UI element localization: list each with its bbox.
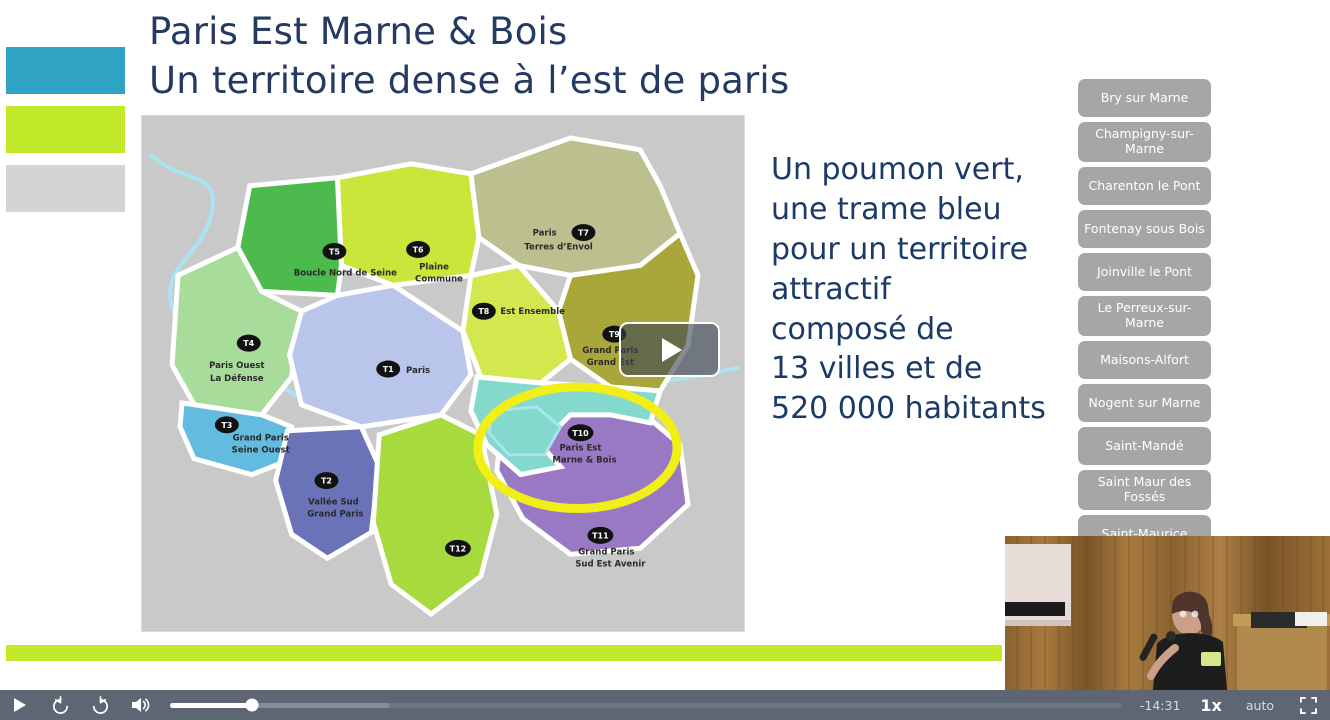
svg-text:Paris: Paris bbox=[406, 366, 430, 376]
svg-text:Paris Ouest: Paris Ouest bbox=[209, 361, 264, 371]
svg-text:Paris: Paris bbox=[533, 229, 557, 239]
svg-text:La Défense: La Défense bbox=[210, 373, 264, 384]
city-button[interactable]: Charenton le Pont bbox=[1078, 167, 1211, 205]
volume-icon bbox=[130, 696, 150, 714]
body-line: Un poumon vert, bbox=[771, 150, 1071, 190]
body-line: 13 villes et de bbox=[771, 349, 1071, 389]
slide-title-line-1: Paris Est Marne & Bois bbox=[149, 8, 909, 57]
city-button[interactable]: Nogent sur Marne bbox=[1078, 384, 1211, 422]
rewind-icon bbox=[51, 696, 70, 715]
volume-button[interactable] bbox=[120, 690, 160, 720]
color-swatch-group bbox=[6, 47, 125, 224]
city-button[interactable]: Maisons-Alfort bbox=[1078, 341, 1211, 379]
city-button[interactable]: Saint-Mandé bbox=[1078, 427, 1211, 465]
slide-title-line-2: Un territoire dense à l’est de paris bbox=[149, 57, 909, 106]
city-button[interactable]: Champigny-sur-Marne bbox=[1078, 122, 1211, 162]
svg-text:Marne & Bois: Marne & Bois bbox=[552, 456, 616, 466]
city-button[interactable]: Fontenay sous Bois bbox=[1078, 210, 1211, 248]
video-control-bar: -14:31 1x auto bbox=[0, 690, 1330, 720]
fullscreen-icon bbox=[1300, 697, 1317, 714]
swatch-gray bbox=[6, 165, 125, 212]
webcam-pip[interactable] bbox=[1005, 536, 1330, 690]
svg-text:Terres d’Envol: Terres d’Envol bbox=[524, 242, 593, 252]
svg-text:T4: T4 bbox=[243, 339, 254, 348]
city-button[interactable]: Joinville le Pont bbox=[1078, 253, 1211, 291]
map-badge-T1: T1 bbox=[376, 361, 400, 378]
svg-text:T5: T5 bbox=[329, 247, 340, 256]
seek-progress bbox=[170, 703, 252, 708]
fullscreen-button[interactable] bbox=[1286, 690, 1330, 720]
svg-text:Grand Paris: Grand Paris bbox=[233, 434, 289, 444]
svg-text:Boucle Nord de Seine: Boucle Nord de Seine bbox=[294, 268, 397, 278]
map-badge-T12: T12 bbox=[445, 540, 471, 557]
svg-text:T8: T8 bbox=[478, 307, 489, 316]
playback-speed-button[interactable]: 1x bbox=[1188, 696, 1233, 715]
play-overlay-button[interactable] bbox=[619, 322, 720, 377]
swatch-teal bbox=[6, 47, 125, 94]
body-line: 520 000 habitants bbox=[771, 389, 1071, 429]
forward-icon bbox=[91, 696, 110, 715]
svg-text:T3: T3 bbox=[221, 421, 232, 430]
svg-text:T11: T11 bbox=[592, 531, 609, 540]
play-icon bbox=[13, 697, 27, 713]
slide-title-block: Paris Est Marne & Bois Un territoire den… bbox=[149, 8, 909, 106]
play-button[interactable] bbox=[0, 690, 40, 720]
svg-text:Paris Est: Paris Est bbox=[559, 444, 601, 454]
seek-track[interactable] bbox=[170, 703, 1122, 708]
city-button[interactable]: Bry sur Marne bbox=[1078, 79, 1211, 117]
map-badge-T11: T11 bbox=[587, 527, 613, 544]
territory-T6 bbox=[337, 164, 478, 286]
video-player-page: Paris Est Marne & Bois Un territoire den… bbox=[0, 0, 1330, 720]
svg-text:T7: T7 bbox=[578, 229, 589, 238]
map-badge-T10: T10 bbox=[568, 424, 594, 441]
map-badge-T8: T8 bbox=[472, 303, 496, 320]
forward-button[interactable] bbox=[80, 690, 120, 720]
slide-body-text: Un poumon vert, une trame bleu pour un t… bbox=[771, 150, 1071, 429]
time-remaining: -14:31 bbox=[1132, 698, 1189, 713]
map-badge-T5: T5 bbox=[322, 243, 346, 260]
map-badge-T3: T3 bbox=[215, 416, 239, 433]
svg-text:Plaine: Plaine bbox=[419, 262, 449, 272]
rewind-button[interactable] bbox=[40, 690, 80, 720]
svg-text:Grand Paris: Grand Paris bbox=[578, 547, 634, 557]
svg-text:Vallée Sud: Vallée Sud bbox=[308, 496, 359, 507]
svg-text:Sud Est Avenir: Sud Est Avenir bbox=[575, 559, 646, 569]
map-badge-T4: T4 bbox=[237, 335, 261, 352]
seek-handle[interactable] bbox=[245, 699, 258, 712]
city-button[interactable]: Saint Maur des Fossés bbox=[1078, 470, 1211, 510]
svg-text:T2: T2 bbox=[321, 477, 332, 486]
svg-text:T12: T12 bbox=[450, 544, 467, 553]
svg-text:T6: T6 bbox=[413, 245, 424, 254]
svg-text:Grand Paris: Grand Paris bbox=[307, 509, 363, 519]
svg-text:Commune: Commune bbox=[415, 274, 463, 284]
quality-button[interactable]: auto bbox=[1234, 698, 1286, 713]
body-line: composé de bbox=[771, 310, 1071, 350]
body-line: pour un territoire bbox=[771, 230, 1071, 270]
svg-text:T1: T1 bbox=[383, 365, 394, 374]
control-bar-right: -14:31 1x auto bbox=[1132, 690, 1330, 720]
swatch-lime bbox=[6, 106, 125, 153]
city-button[interactable]: Le Perreux-sur-Marne bbox=[1078, 296, 1211, 336]
svg-text:Seine Ouest: Seine Ouest bbox=[232, 446, 290, 456]
body-line: une trame bleu bbox=[771, 190, 1071, 230]
map-badge-T6: T6 bbox=[406, 241, 430, 258]
map-badge-T7: T7 bbox=[572, 224, 596, 241]
svg-text:T10: T10 bbox=[572, 429, 589, 438]
svg-text:Est Ensemble: Est Ensemble bbox=[500, 307, 565, 317]
city-button-list: Bry sur Marne Champigny-sur-Marne Charen… bbox=[1078, 79, 1211, 558]
accent-bar bbox=[6, 645, 1002, 661]
seek-bar[interactable] bbox=[160, 690, 1132, 720]
map-badge-T2: T2 bbox=[314, 472, 338, 489]
body-line: attractif bbox=[771, 270, 1071, 310]
play-icon bbox=[662, 338, 682, 362]
webcam-frame bbox=[1005, 536, 1330, 690]
